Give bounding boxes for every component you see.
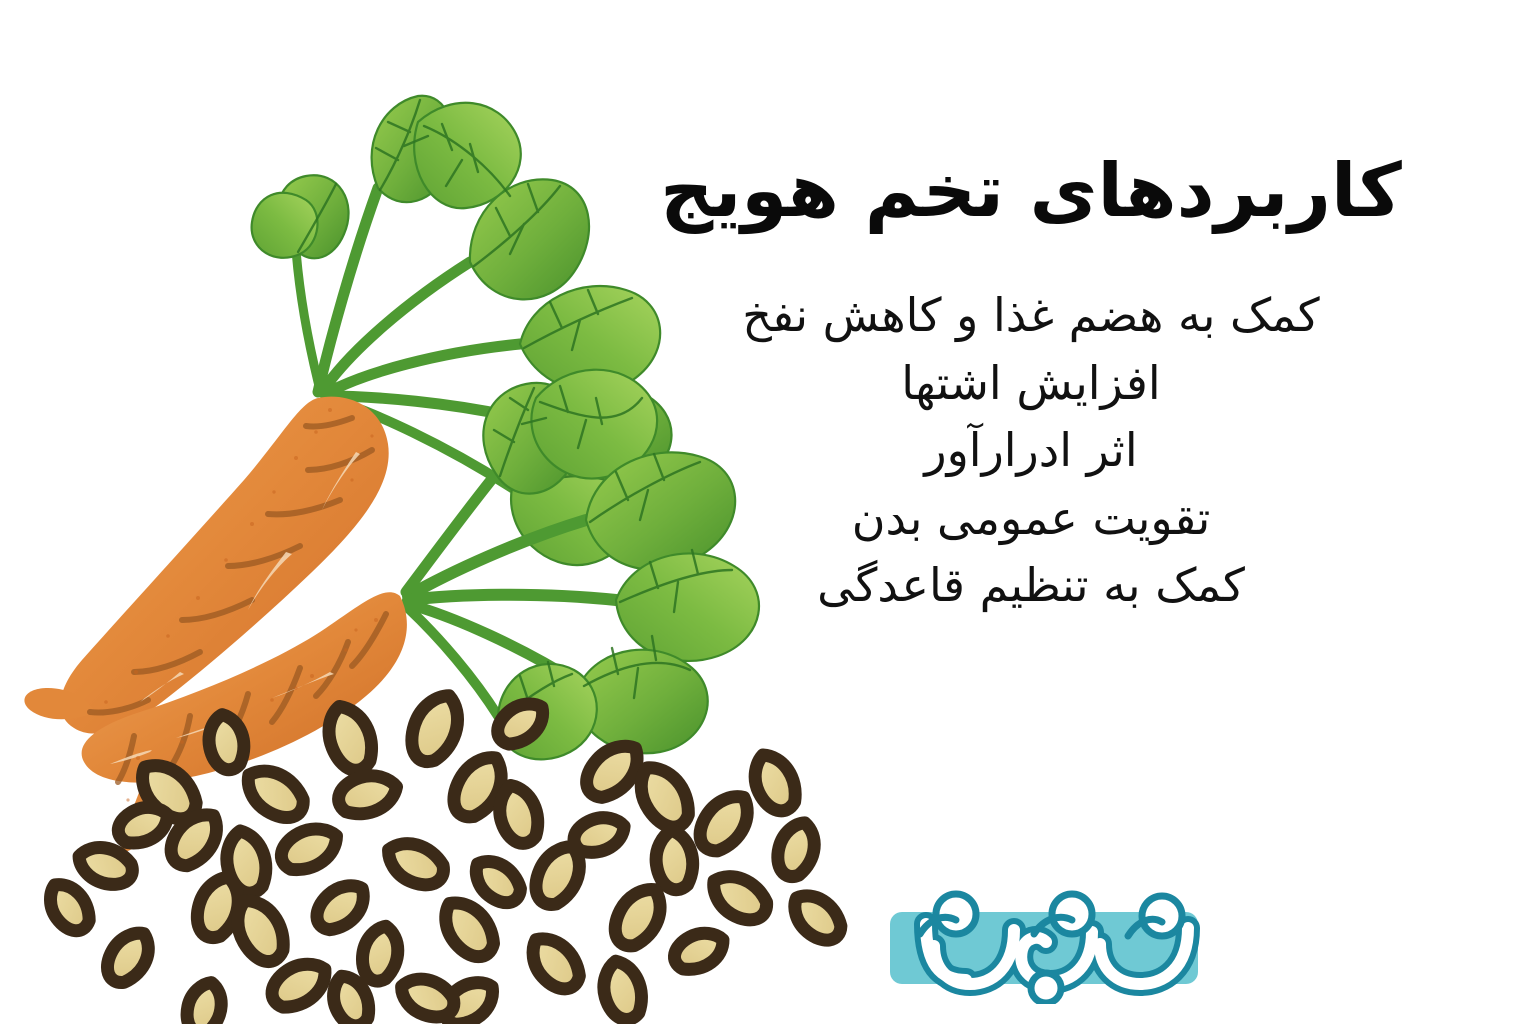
carrot-upper-ridges xyxy=(90,418,372,713)
carrot-lower-body xyxy=(82,592,407,782)
carrot-lower-greens xyxy=(406,474,616,716)
carrot-upper-speckles xyxy=(104,408,373,704)
carrot-upper-greens xyxy=(296,188,528,488)
carrot-upper-body xyxy=(61,397,389,734)
carrot-lower-tail xyxy=(121,760,168,851)
carrot-lower-speckles xyxy=(126,618,378,802)
carrot-upper-highlights xyxy=(140,452,360,702)
benefit-item-3: اثر ادرارآور xyxy=(586,420,1476,482)
benefit-item-5: کمک به تنظیم قاعدگی xyxy=(586,555,1476,617)
carrot-upper xyxy=(24,96,671,734)
page-title: کاربردهای تخم هویج xyxy=(586,150,1476,233)
benefit-item-4: تقویت عمومی بدن xyxy=(586,488,1476,550)
benefit-item-2: افزایش اشتها xyxy=(586,353,1476,415)
content-text-block: کاربردهای تخم هویج کمک به هضم غذا و کاهش… xyxy=(586,150,1476,623)
carrot-lower-highlights xyxy=(110,672,334,764)
infographic-page: کاربردهای تخم هویج کمک به هضم غذا و کاهش… xyxy=(0,0,1536,1024)
benefit-item-1: کمک به هضم غذا و کاهش نفخ xyxy=(586,285,1476,347)
carrot-lower-ridges xyxy=(118,614,386,782)
carrot-upper-tip xyxy=(24,688,96,719)
niniban-logo[interactable]: نی نی بان xyxy=(876,880,1212,1004)
